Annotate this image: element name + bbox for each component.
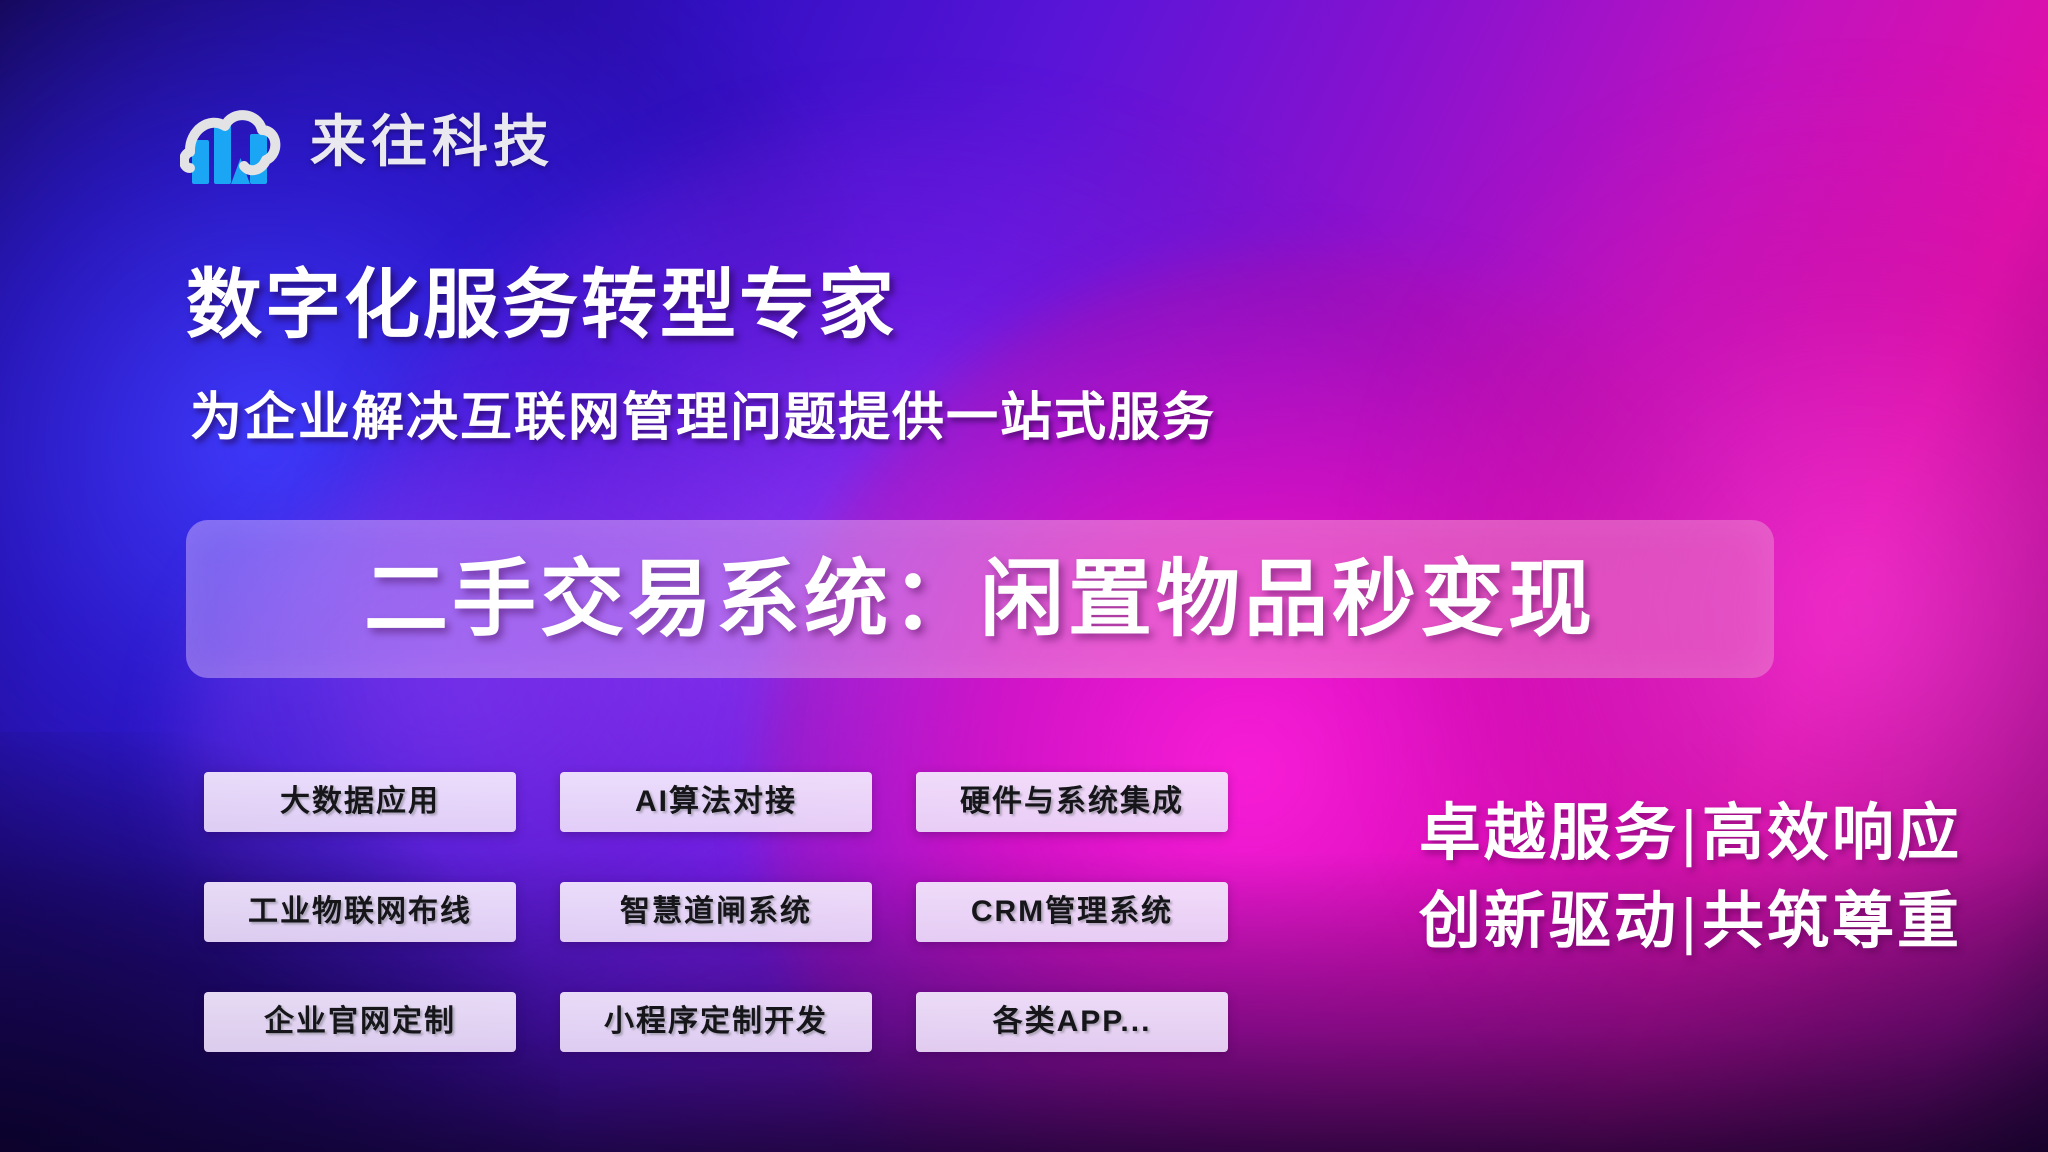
slogan-right: 共筑尊重: [1702, 887, 1962, 956]
page-subtitle: 为企业解决互联网管理问题提供一站式服务: [190, 392, 1216, 444]
service-tag[interactable]: CRM管理系统: [916, 882, 1228, 942]
service-tag-label: AI算法对接: [635, 787, 797, 817]
page-title: 数字化服务转型专家: [186, 268, 897, 344]
slogan-line: 卓越服务|高效响应: [1419, 790, 1962, 878]
service-tag-label: 企业官网定制: [264, 1007, 456, 1037]
promo-banner: 来往科技 数字化服务转型专家 为企业解决互联网管理问题提供一站式服务 二手交易系…: [0, 0, 2048, 1152]
slogan-block: 卓越服务|高效响应 创新驱动|共筑尊重: [1419, 790, 1962, 966]
cloud-chart-logo-icon: [180, 96, 288, 188]
service-tag-label: 小程序定制开发: [604, 1007, 828, 1037]
service-tag-label: 大数据应用: [280, 787, 440, 817]
slogan-right: 高效响应: [1702, 799, 1962, 868]
service-tag-label: CRM管理系统: [971, 897, 1173, 927]
highlight-banner: 二手交易系统：闲置物品秒变现: [186, 520, 1774, 678]
service-tag[interactable]: 小程序定制开发: [560, 992, 872, 1052]
service-tag-label: 工业物联网布线: [248, 897, 472, 927]
slogan-separator: |: [1679, 799, 1702, 868]
highlight-title: 二手交易系统：闲置物品秒变现: [364, 557, 1596, 641]
slogan-left: 创新驱动: [1419, 887, 1679, 956]
service-tag-label: 各类APP...: [993, 1007, 1152, 1037]
service-tag[interactable]: 企业官网定制: [204, 992, 516, 1052]
slogan-left: 卓越服务: [1419, 799, 1679, 868]
slogan-line: 创新驱动|共筑尊重: [1419, 878, 1962, 966]
service-tag[interactable]: 智慧道闸系统: [560, 882, 872, 942]
service-tag-label: 智慧道闸系统: [620, 897, 812, 927]
brand-logo: 来往科技: [180, 96, 554, 188]
brand-name: 来往科技: [310, 114, 554, 170]
service-tag[interactable]: 硬件与系统集成: [916, 772, 1228, 832]
service-tag[interactable]: AI算法对接: [560, 772, 872, 832]
service-tag[interactable]: 大数据应用: [204, 772, 516, 832]
service-tag-label: 硬件与系统集成: [960, 787, 1184, 817]
service-tag[interactable]: 各类APP...: [916, 992, 1228, 1052]
service-tag-grid: 大数据应用 AI算法对接 硬件与系统集成 工业物联网布线 智慧道闸系统 CRM管…: [204, 772, 1228, 1052]
service-tag[interactable]: 工业物联网布线: [204, 882, 516, 942]
slogan-separator: |: [1679, 887, 1702, 956]
